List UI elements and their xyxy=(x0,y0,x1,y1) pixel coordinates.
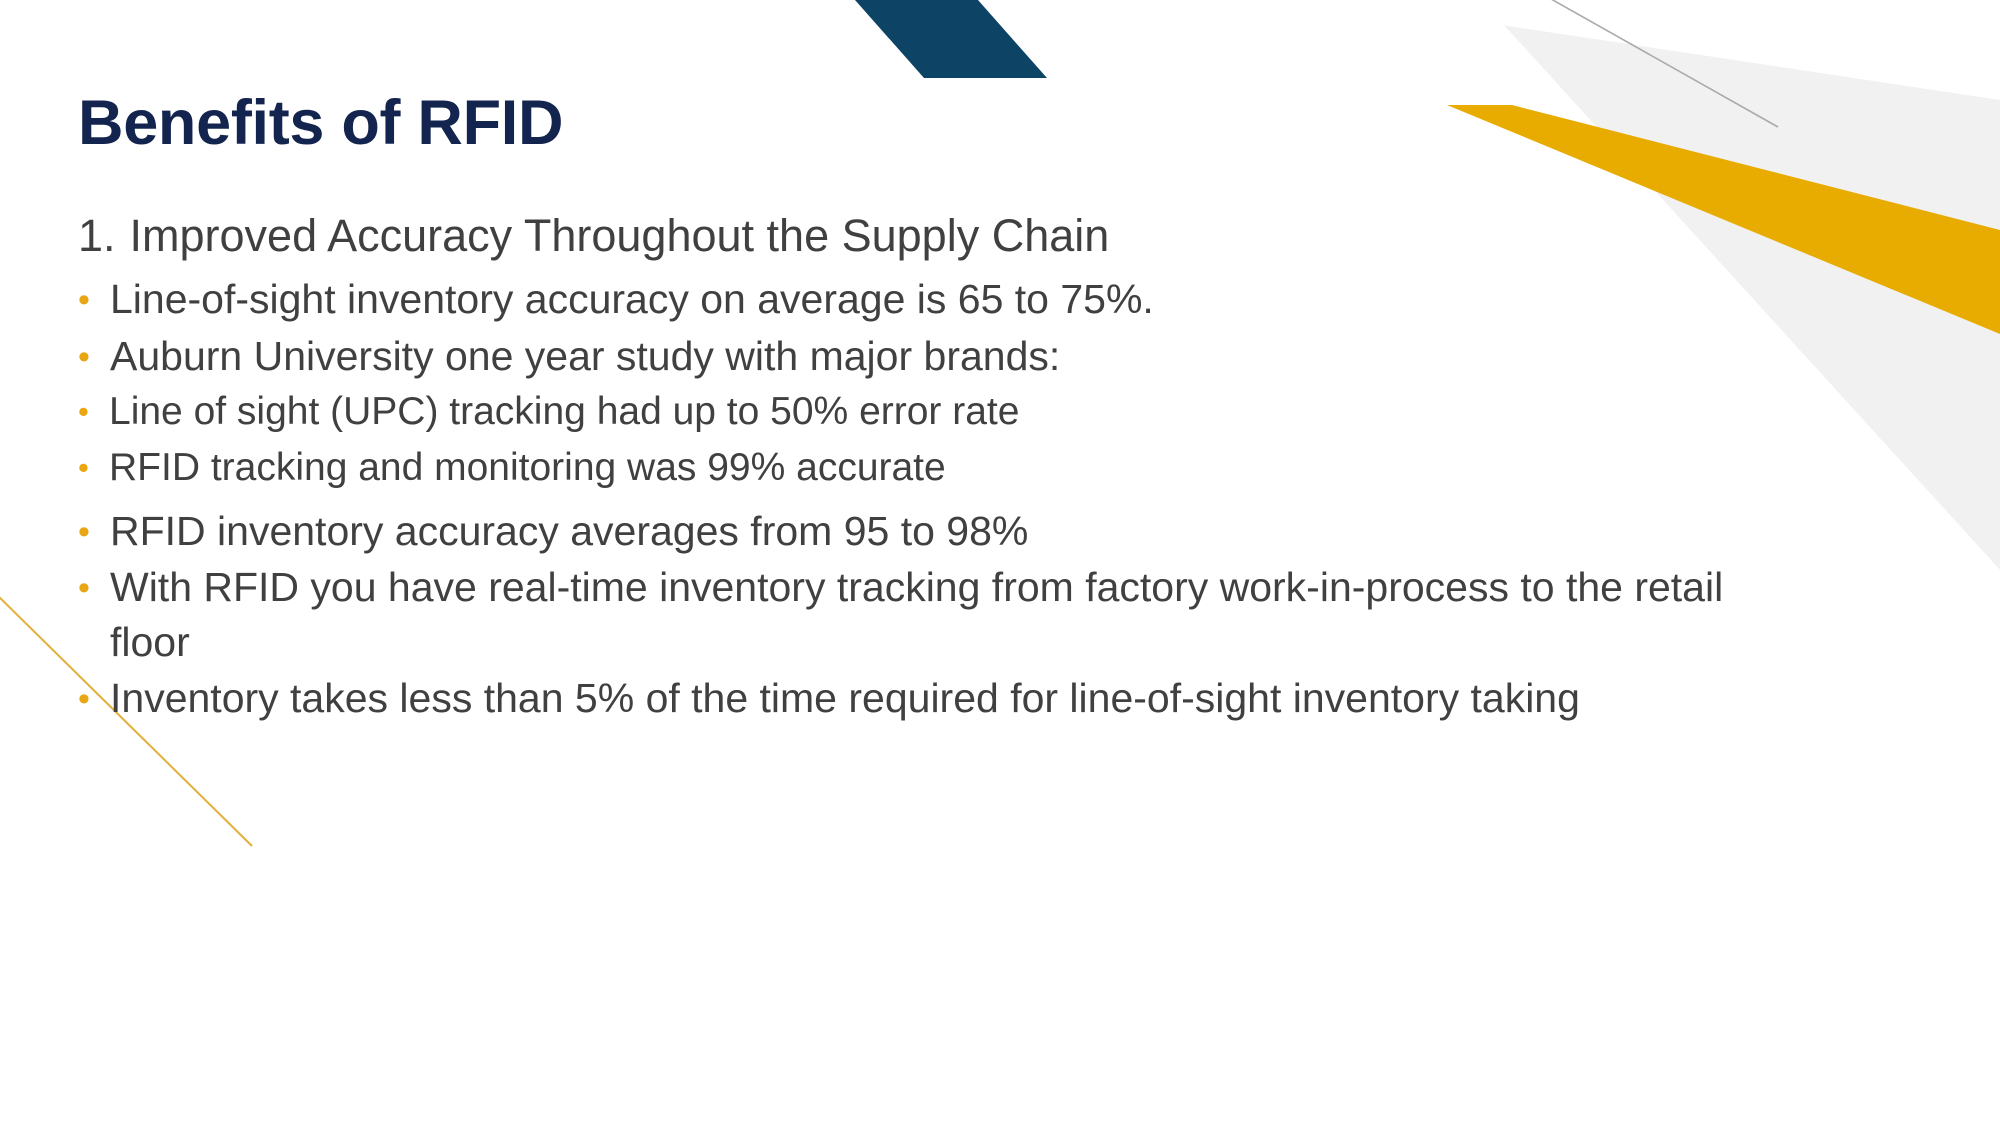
list-number: 1. xyxy=(78,210,116,262)
bullet-dot-icon: • xyxy=(78,504,104,549)
list-item-label: RFID inventory accuracy averages from 95… xyxy=(110,504,1735,559)
bullet-list-level3: • Line of sight (UPC) tracking had up to… xyxy=(78,385,1868,495)
bullet-dot-icon: • xyxy=(78,272,104,317)
bullet-dot-icon: • xyxy=(78,671,104,716)
list-item: • Auburn University one year study with … xyxy=(78,329,1868,384)
list-item: • With RFID you have real-time inventory… xyxy=(78,560,1868,669)
nested-list-container: • Line of sight (UPC) tracking had up to… xyxy=(78,385,1868,495)
slide-body: 1. Improved Accuracy Throughout the Supp… xyxy=(78,210,1868,728)
list-item-label: Auburn University one year study with ma… xyxy=(110,329,1735,384)
bullet-dot-icon: • xyxy=(78,329,104,374)
list-item: • RFID tracking and monitoring was 99% a… xyxy=(78,441,1868,495)
list-item: • Inventory takes less than 5% of the ti… xyxy=(78,671,1868,726)
list-item-label: Line of sight (UPC) tracking had up to 5… xyxy=(109,385,1669,439)
numbered-item-text: Improved Accuracy Throughout the Supply … xyxy=(130,210,1868,262)
slide-canvas: Benefits of RFID 1. Improved Accuracy Th… xyxy=(0,0,2000,1125)
list-item: • Line of sight (UPC) tracking had up to… xyxy=(78,385,1868,439)
navy-diagonal-band xyxy=(855,0,1047,78)
list-item: • Line-of-sight inventory accuracy on av… xyxy=(78,272,1868,327)
bullet-dot-icon: • xyxy=(78,560,104,605)
page-title: Benefits of RFID xyxy=(78,88,1278,159)
numbered-list-item-1: 1. Improved Accuracy Throughout the Supp… xyxy=(78,210,1868,262)
list-item-label: Line-of-sight inventory accuracy on aver… xyxy=(110,272,1735,327)
list-item-label: Inventory takes less than 5% of the time… xyxy=(110,671,1735,726)
list-item-label: With RFID you have real-time inventory t… xyxy=(110,560,1735,669)
bullet-dot-icon: • xyxy=(78,385,103,427)
bullet-dot-icon: • xyxy=(78,441,103,483)
list-item-label: RFID tracking and monitoring was 99% acc… xyxy=(109,441,1669,495)
bullet-list-level2: • Line-of-sight inventory accuracy on av… xyxy=(78,272,1868,726)
list-item: • RFID inventory accuracy averages from … xyxy=(78,504,1868,559)
